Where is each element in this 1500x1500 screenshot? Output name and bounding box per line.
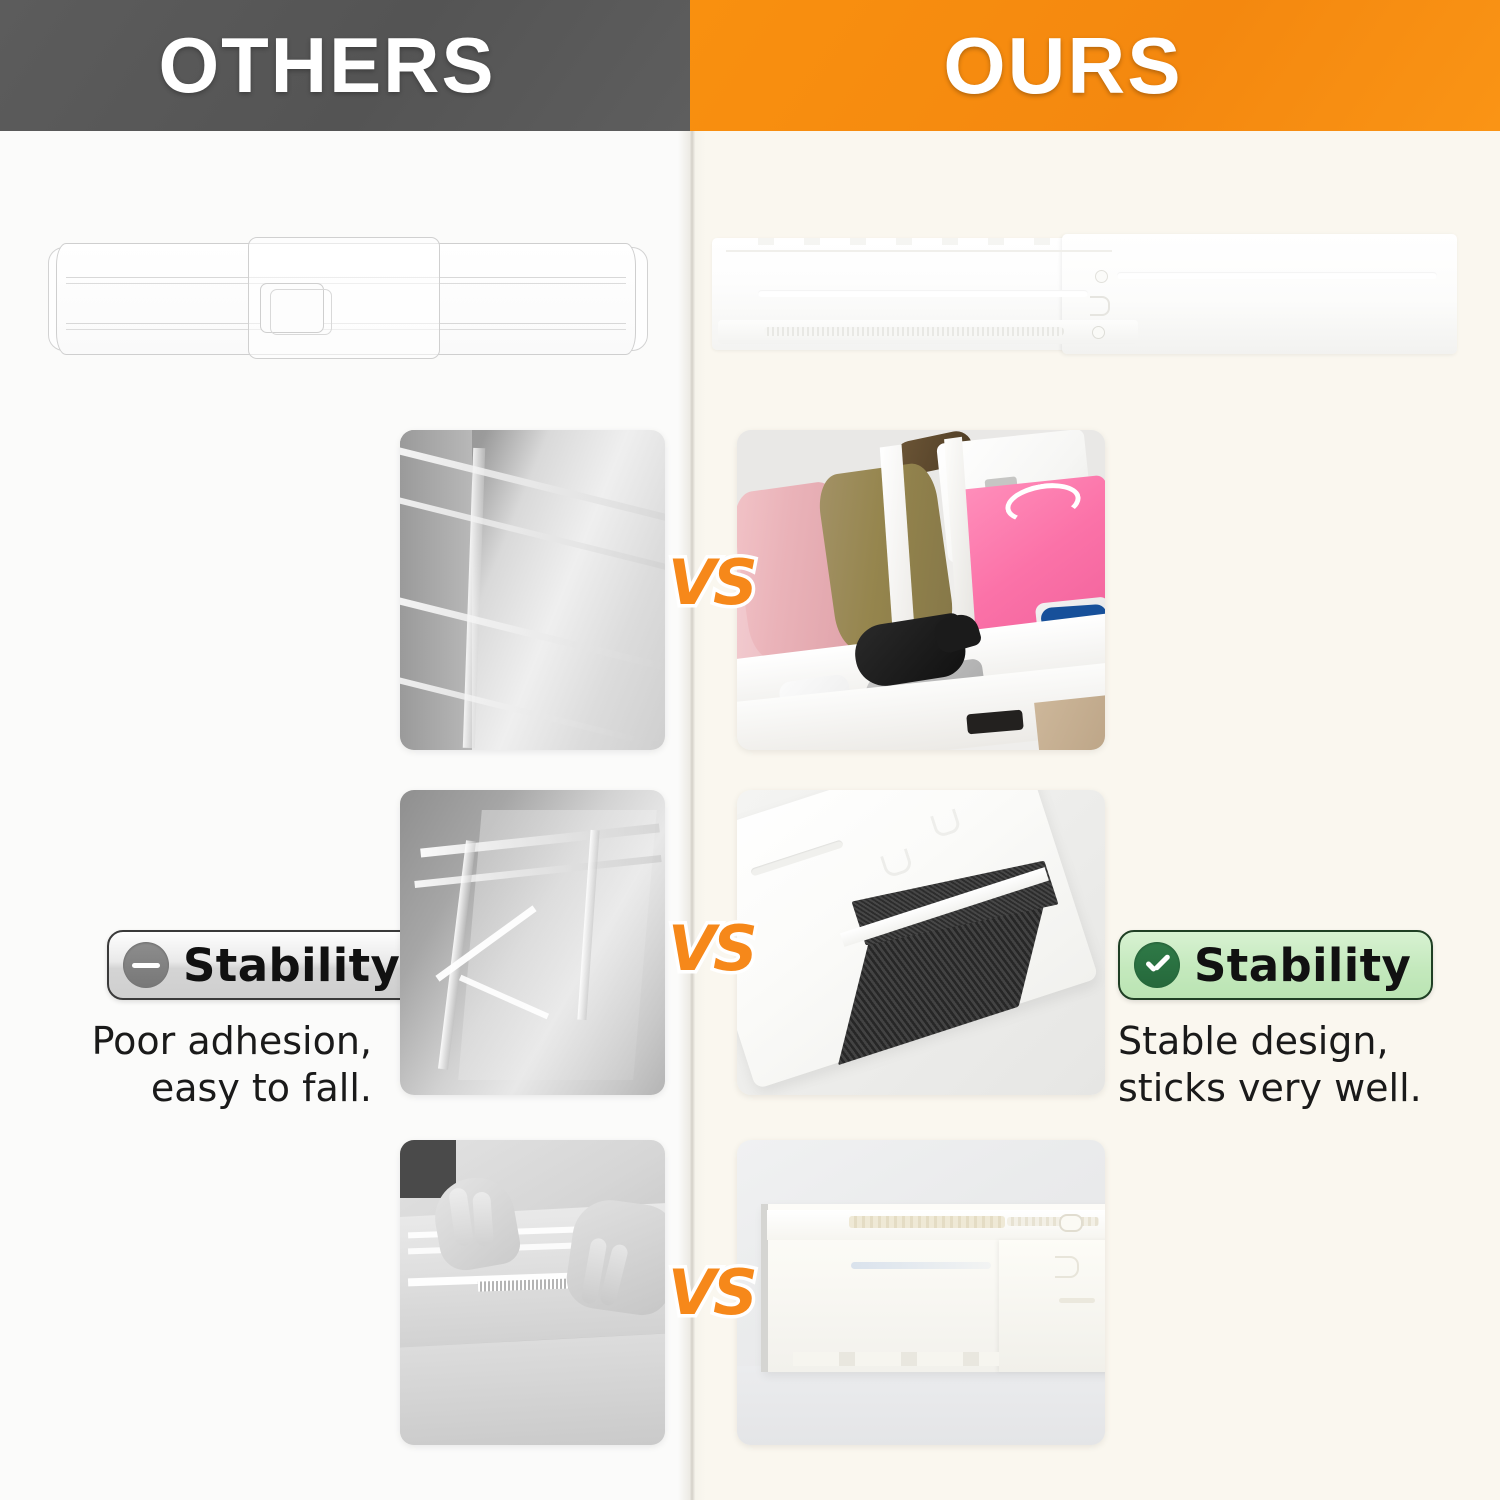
photo-others-material [400, 790, 665, 1095]
white-divider-scalloped-top [728, 238, 1058, 245]
white-divider-ridge [726, 250, 1112, 252]
white-abs-with-foam-photo [737, 790, 1105, 1095]
divider-rack-teeth-1 [849, 1216, 1005, 1228]
hands-retracting-photo [400, 1140, 665, 1445]
divider-slot-mark [1059, 1298, 1095, 1303]
photo-shadow-panel [400, 430, 472, 750]
header-ours-panel: OURS [690, 0, 1500, 131]
white-divider-groove-left [758, 290, 1088, 297]
vs-marker-stability: VS [668, 552, 755, 614]
divider-adjust-knob [1059, 1214, 1083, 1232]
photo-others-stability [400, 430, 665, 750]
vs-marker-material: VS [668, 918, 755, 980]
comparison-infographic: OTHERS OURS [0, 0, 1500, 1500]
header-others-title: OTHERS [158, 20, 495, 111]
photo-ours-retraction [737, 1140, 1105, 1445]
photo-ours-stability [737, 430, 1105, 750]
white-divider-clip-icon [1090, 296, 1110, 316]
header-bar: OTHERS OURS [0, 0, 1500, 131]
divider-highlight [851, 1262, 991, 1269]
divider-rack-teeth-2 [1007, 1217, 1099, 1226]
header-others-panel: OTHERS [0, 0, 690, 131]
vs-marker-retraction: VS [668, 1262, 755, 1324]
white-divider-profile-photo [737, 1140, 1105, 1445]
photo-ours-material [737, 790, 1105, 1095]
drawer-base-surface [400, 1331, 665, 1445]
grayscale-broken-ps-photo [400, 790, 665, 1095]
photo-others-retraction [400, 1140, 665, 1445]
header-ours-title: OURS [943, 20, 1182, 112]
white-divider-rack-teeth [764, 327, 1064, 336]
divider-clip-icon [1055, 1256, 1079, 1278]
white-divider-pin-hole [1095, 270, 1108, 283]
white-divider-illustration [712, 228, 1457, 363]
acrylic-divider-illustration [48, 225, 648, 370]
divider-overlap-panel [999, 1240, 1105, 1372]
wood-floor [1034, 693, 1105, 750]
white-divider-groove-right [1117, 272, 1437, 279]
drawer-with-clothes-photo [737, 430, 1105, 750]
divider-foot-scallops [793, 1352, 999, 1366]
left-hand-finger-2 [472, 1191, 494, 1246]
grayscale-clear-divider-photo [400, 430, 665, 750]
background-surface [737, 1366, 1105, 1445]
acrylic-side-button-inner [270, 289, 332, 335]
white-divider-lock-pin [1092, 326, 1105, 339]
hero-image-ours-divider [712, 228, 1457, 363]
hero-image-others-divider [48, 225, 648, 370]
